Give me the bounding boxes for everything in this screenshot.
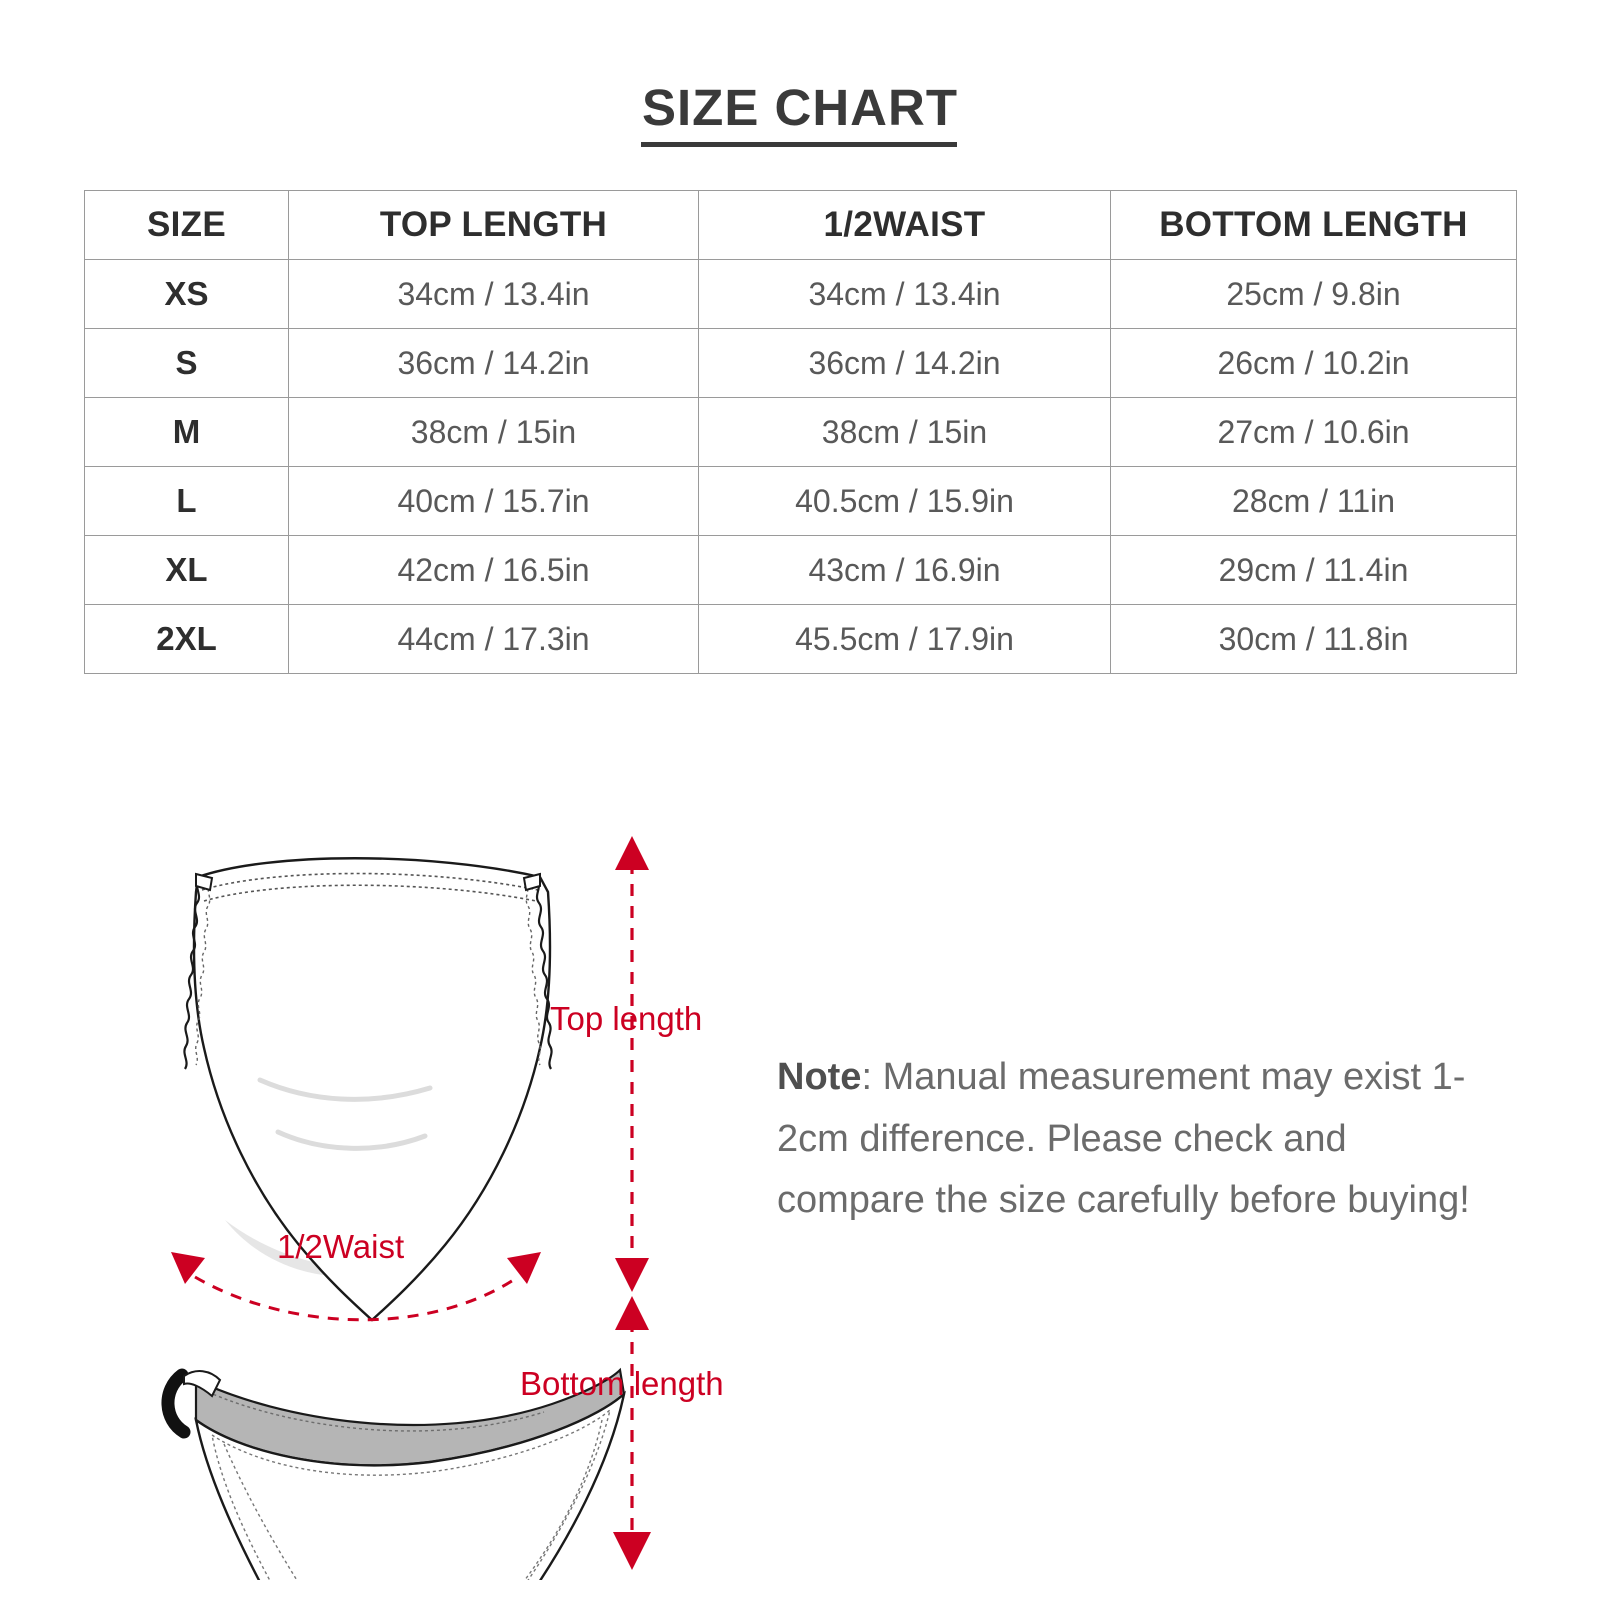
cell-bottom-length: 26cm / 10.2in [1111, 329, 1517, 398]
cell-top-length: 42cm / 16.5in [289, 536, 699, 605]
note-block: Note: Manual measurement may exist 1-2cm… [777, 1047, 1477, 1232]
cell-top-length: 38cm / 15in [289, 398, 699, 467]
top-length-arrowhead-down [615, 1258, 649, 1292]
cell-half-waist: 45.5cm / 17.9in [699, 605, 1111, 674]
cell-bottom-length: 28cm / 11in [1111, 467, 1517, 536]
cell-half-waist: 38cm / 15in [699, 398, 1111, 467]
cell-bottom-length: 25cm / 9.8in [1111, 260, 1517, 329]
cell-size: S [85, 329, 289, 398]
bottom-length-arrow [613, 1296, 651, 1570]
column-header-top-length: TOP LENGTH [289, 191, 699, 260]
cell-bottom-length: 27cm / 10.6in [1111, 398, 1517, 467]
note-text: : Manual measurement may exist 1-2cm dif… [777, 1056, 1470, 1221]
cell-half-waist: 34cm / 13.4in [699, 260, 1111, 329]
table-header-row: SIZE TOP LENGTH 1/2WAIST BOTTOM LENGTH [85, 191, 1517, 260]
table-row: 2XL 44cm / 17.3in 45.5cm / 17.9in 30cm /… [85, 605, 1517, 674]
table-row: XS 34cm / 13.4in 34cm / 13.4in 25cm / 9.… [85, 260, 1517, 329]
column-header-half-waist: 1/2WAIST [699, 191, 1111, 260]
title-block: SIZE CHART [0, 82, 1600, 134]
note-label: Note [777, 1056, 861, 1098]
column-header-size: SIZE [85, 191, 289, 260]
cell-top-length: 34cm / 13.4in [289, 260, 699, 329]
cell-top-length: 36cm / 14.2in [289, 329, 699, 398]
table-row: S 36cm / 14.2in 36cm / 14.2in 26cm / 10.… [85, 329, 1517, 398]
cell-bottom-length: 30cm / 11.8in [1111, 605, 1517, 674]
cell-size: 2XL [85, 605, 289, 674]
cell-size: XL [85, 536, 289, 605]
cell-bottom-length: 29cm / 11.4in [1111, 536, 1517, 605]
cell-size: M [85, 398, 289, 467]
size-chart-page: SIZE CHART SIZE TOP LENGTH 1/2WAIST BOTT… [0, 0, 1600, 1600]
cell-half-waist: 40.5cm / 15.9in [699, 467, 1111, 536]
size-chart-table: SIZE TOP LENGTH 1/2WAIST BOTTOM LENGTH X… [84, 190, 1517, 674]
column-header-bottom-length: BOTTOM LENGTH [1111, 191, 1517, 260]
table-row: L 40cm / 15.7in 40.5cm / 15.9in 28cm / 1… [85, 467, 1517, 536]
cell-half-waist: 36cm / 14.2in [699, 329, 1111, 398]
title-underline [641, 142, 957, 147]
table-row: XL 42cm / 16.5in 43cm / 16.9in 29cm / 11… [85, 536, 1517, 605]
cell-half-waist: 43cm / 16.9in [699, 536, 1111, 605]
bottom-length-arrowhead-up [615, 1296, 649, 1330]
cell-size: L [85, 467, 289, 536]
garment-diagram-svg [100, 780, 860, 1580]
top-left-tab [196, 874, 212, 890]
cell-top-length: 44cm / 17.3in [289, 605, 699, 674]
table-row: M 38cm / 15in 38cm / 15in 27cm / 10.6in [85, 398, 1517, 467]
cell-top-length: 40cm / 15.7in [289, 467, 699, 536]
half-waist-arrowhead-right [507, 1252, 541, 1284]
page-title: SIZE CHART [642, 82, 958, 134]
bottom-length-arrowhead-down [613, 1532, 651, 1570]
top-length-arrowhead-up [615, 836, 649, 870]
measurement-label-top-length: Top length [550, 1000, 702, 1038]
measurement-label-bottom-length: Bottom length [520, 1365, 724, 1403]
cell-size: XS [85, 260, 289, 329]
bottom-side-loop [168, 1375, 184, 1432]
top-right-tab [524, 874, 540, 890]
measurement-label-half-waist: 1/2Waist [277, 1228, 404, 1266]
top-length-arrow [615, 836, 649, 1292]
